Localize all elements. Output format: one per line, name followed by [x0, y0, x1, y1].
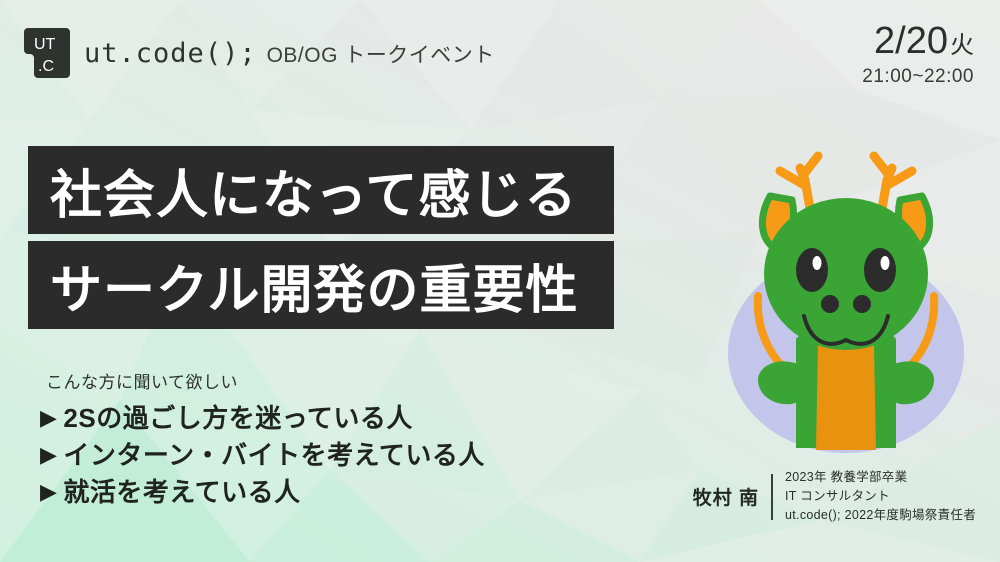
brand-mono-green: code	[136, 38, 205, 69]
title-line-1: 社会人になって感じる	[28, 146, 614, 234]
speaker-name: 牧村 南	[693, 483, 759, 510]
credential-line: IT コンサルタント	[785, 488, 976, 505]
ut-code-logo-icon: UT .C	[24, 28, 70, 78]
speaker-credit: 牧村 南 2023年 教養学部卒業 IT コンサルタント ut.code(); …	[693, 469, 976, 524]
list-item: ▶ インターン・バイトを考えている人	[40, 437, 485, 474]
event-poster: UT .C ut.code(); OB/OG トークイベント 2/20 火 21…	[0, 0, 1000, 562]
title-line-2: サークル開発の重要性	[28, 241, 614, 329]
event-time: 21:00~22:00	[862, 66, 974, 88]
triangle-bullet-icon: ▶	[40, 481, 57, 503]
credit-divider	[771, 474, 773, 520]
triangle-bullet-icon: ▶	[40, 407, 57, 429]
audience-heading: こんな方に聞いて欲しい	[46, 368, 238, 393]
brand-title: ut.code(); OB/OG トークイベント	[84, 38, 495, 69]
list-item-label: 就活を考えている人	[63, 474, 300, 511]
event-weekday: 火	[950, 33, 974, 58]
brand-subtitle: OB/OG トークイベント	[267, 39, 495, 69]
list-item-label: 2Sの過ごし方を迷っている人	[63, 400, 413, 437]
list-item: ▶ 就活を考えている人	[40, 474, 485, 511]
speaker-credentials: 2023年 教養学部卒業 IT コンサルタント ut.code(); 2022年…	[785, 469, 976, 524]
logo-top-text: UT	[34, 36, 56, 53]
header: UT .C ut.code(); OB/OG トークイベント	[24, 28, 495, 78]
list-item: ▶ 2Sの過ごし方を迷っている人	[40, 400, 485, 437]
date-block: 2/20 火 21:00~22:00	[862, 22, 974, 88]
list-item-label: インターン・バイトを考えている人	[63, 437, 484, 474]
credential-line: ut.code(); 2022年度駒場祭責任者	[785, 507, 976, 524]
logo-bottom-text: .C	[38, 58, 54, 75]
triangle-bullet-icon: ▶	[40, 444, 57, 466]
credential-line: 2023年 教養学部卒業	[785, 469, 976, 486]
audience-list: ▶ 2Sの過ごし方を迷っている人 ▶ インターン・バイトを考えている人 ▶ 就活…	[40, 400, 485, 511]
brand-mono-prefix: ut.	[84, 38, 136, 69]
brand-mono-suffix: ();	[205, 38, 257, 69]
event-date: 2/20	[874, 22, 948, 62]
dragon-mascot-icon	[700, 118, 992, 463]
